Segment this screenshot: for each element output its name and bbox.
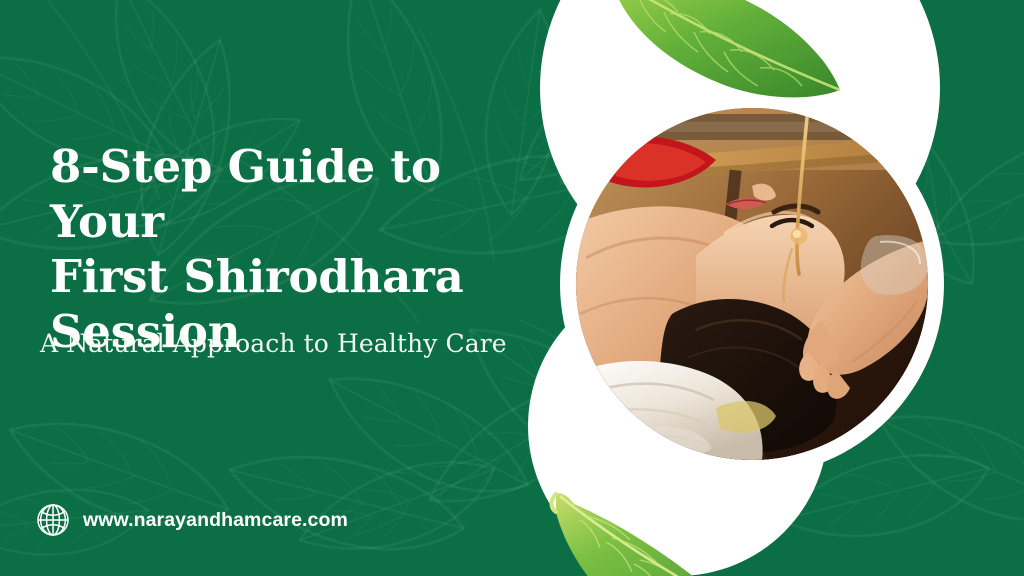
page-title: 8-Step Guide to Your First Shirodhara Se… [50, 140, 570, 360]
page-subtitle: A Natural Approach to Healthy Care [40, 329, 560, 358]
site-footer[interactable]: www.narayandhamcare.com [36, 503, 348, 537]
site-url-text[interactable]: www.narayandhamcare.com [83, 509, 348, 532]
shirodhara-treatment-photo [576, 108, 928, 460]
globe-icon [36, 503, 70, 537]
promo-banner: 8-Step Guide to Your First Shirodhara Se… [0, 0, 1024, 576]
